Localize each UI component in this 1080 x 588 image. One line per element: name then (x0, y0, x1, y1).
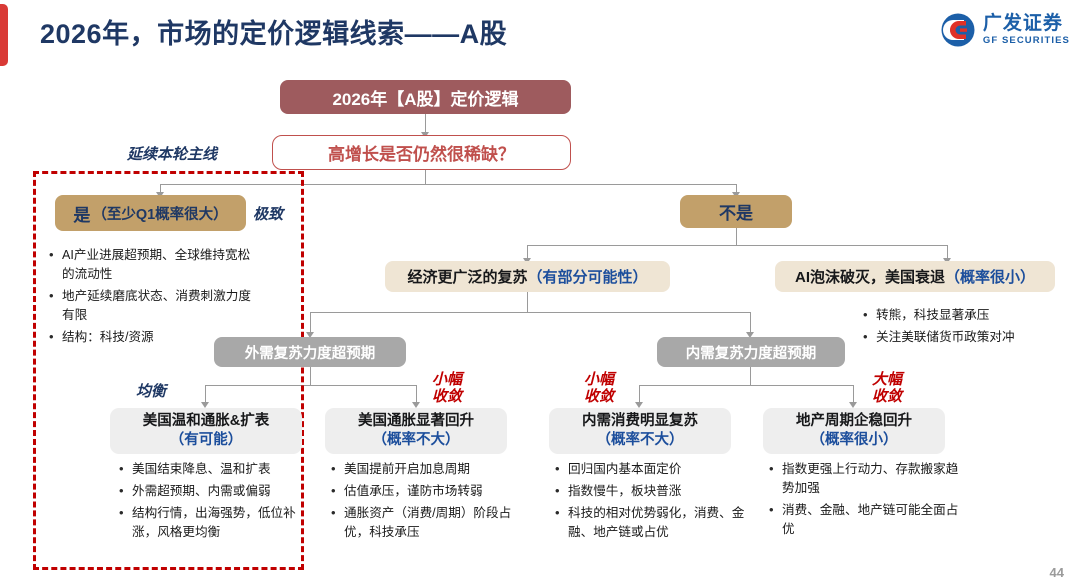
connector-no-down (736, 228, 737, 245)
node-outcome-4[interactable]: 地产周期企稳回升 （概率很小） (763, 408, 945, 454)
list-item: 结构行情，出海强势，低位补涨，风格更均衡 (118, 504, 308, 542)
node-branch-yes-main: 是 (73, 201, 90, 226)
bullets-outcome-4: 指数更强上行动力、存款搬家趋势加强 消费、金融、地产链可能全面占优 (768, 460, 960, 542)
list-item: 指数更强上行动力、存款搬家趋势加强 (768, 460, 960, 498)
annotation-outcome-3-line1: 小幅 (584, 372, 614, 389)
annotation-outcome-2-line2: 收敛 (432, 389, 462, 406)
annotation-outcome-2: 小幅 收敛 (432, 372, 462, 406)
annotation-outcome-4-line2: 收敛 (872, 389, 902, 406)
node-broader-recovery-text: 经济更广泛的复苏 (407, 266, 527, 287)
node-outcome-1[interactable]: 美国温和通胀&扩表 （有可能） (110, 408, 302, 454)
node-outcome-4-probability: （概率很小） (811, 431, 898, 450)
connector-internal-bar (639, 385, 853, 386)
node-outcome-2-title: 美国通胀显著回升 (358, 412, 474, 431)
list-item: AI产业进展超预期、全球维持宽松的流动性 (48, 246, 253, 284)
annotation-outcome-3: 小幅 收敛 (584, 372, 614, 406)
node-root[interactable]: 2026年【A股】定价逻辑 (280, 80, 571, 114)
annotation-outcome-4: 大幅 收敛 (872, 372, 902, 406)
page-number: 44 (1050, 565, 1064, 580)
slide-canvas: 2026年，市场的定价逻辑线索——A股 广发证券 GF SECURITIES 4… (0, 0, 1080, 588)
logo-text-cn: 广发证券 (983, 14, 1070, 33)
list-item: 回归国内基本面定价 (554, 460, 746, 479)
node-ai-bubble-text: AI泡沫破灭，美国衰退 (795, 266, 945, 287)
node-broader-recovery[interactable]: 经济更广泛的复苏（有部分可能性） (385, 261, 670, 292)
annotation-outcome-4-line1: 大幅 (872, 372, 902, 389)
list-item: 转熊，科技显著承压 (862, 306, 1077, 325)
list-item: 外需超预期、内需或偏弱 (118, 482, 308, 501)
connector-to-internal (750, 312, 751, 334)
node-ai-bubble-paren: （概率很小） (945, 266, 1035, 287)
node-outcome-3[interactable]: 内需消费明显复苏 （概率不大） (549, 408, 731, 454)
node-outcome-2[interactable]: 美国通胀显著回升 （概率不大） (325, 408, 507, 454)
brand-logo: 广发证券 GF SECURITIES (940, 12, 1070, 48)
node-outcome-4-title: 地产周期企稳回升 (796, 412, 912, 431)
bullets-ai-bubble: 转熊，科技显著承压 关注美联储货币政策对冲 (862, 306, 1077, 350)
list-item: 估值承压，谨防市场转弱 (330, 482, 520, 501)
connector-to-external (310, 312, 311, 334)
bullets-outcome-1: 美国结束降息、温和扩表 外需超预期、内需或偏弱 结构行情，出海强势，低位补涨，风… (118, 460, 308, 545)
bullets-branch-yes: AI产业进展超预期、全球维持宽松的流动性 地产延续磨底状态、消费刺激力度有限 结… (48, 246, 253, 349)
connector-internal-down (750, 367, 751, 385)
node-ai-bubble-burst[interactable]: AI泡沫破灭，美国衰退（概率很小） (775, 261, 1055, 292)
connector-drivers-bar (310, 312, 750, 313)
gf-logo-icon (940, 12, 976, 48)
list-item: 关注美联储货币政策对冲 (862, 328, 1077, 347)
bullets-outcome-3: 回归国内基本面定价 指数慢牛，板块普涨 科技的相对优势弱化，消费、金融、地产链或… (554, 460, 746, 545)
node-branch-no[interactable]: 不是 (680, 195, 792, 228)
connector-question-down (425, 169, 426, 184)
bullets-outcome-2: 美国提前开启加息周期 估值承压，谨防市场转弱 通胀资产（消费/周期）阶段占优，科… (330, 460, 520, 545)
node-outcome-3-probability: （概率不大） (597, 431, 684, 450)
list-item: 科技的相对优势弱化，消费、金融、地产链或占优 (554, 504, 746, 542)
list-item: 地产延续磨底状态、消费刺激力度有限 (48, 287, 253, 325)
node-internal-demand-driver[interactable]: 内需复苏力度超预期 (657, 337, 845, 367)
annotation-extreme: 极致 (253, 203, 283, 224)
connector-external-down (310, 367, 311, 385)
list-item: 消费、金融、地产链可能全面占优 (768, 501, 960, 539)
annotation-outcome-2-line1: 小幅 (432, 372, 462, 389)
connector-broad-down (527, 292, 528, 312)
node-outcome-1-probability: （有可能） (170, 431, 243, 450)
node-question[interactable]: 高增长是否仍然很稀缺？ (272, 135, 571, 170)
list-item: 美国结束降息、温和扩表 (118, 460, 308, 479)
annotation-outcome-1: 均衡 (136, 380, 166, 401)
node-external-demand-driver[interactable]: 外需复苏力度超预期 (214, 337, 406, 367)
left-red-accent-bar (0, 4, 8, 66)
connector-no-split-bar (527, 245, 947, 246)
node-branch-yes[interactable]: 是 （至少Q1概率很大） (55, 195, 246, 231)
page-title: 2026年，市场的定价逻辑线索——A股 (40, 12, 507, 51)
annotation-outcome-3-line2: 收敛 (584, 389, 614, 406)
node-outcome-1-title: 美国温和通胀&扩表 (143, 412, 269, 431)
list-item: 美国提前开启加息周期 (330, 460, 520, 479)
annotation-continue-main-line: 延续本轮主线 (127, 143, 217, 164)
node-outcome-3-title: 内需消费明显复苏 (582, 412, 698, 431)
list-item: 通胀资产（消费/周期）阶段占优，科技承压 (330, 504, 520, 542)
node-outcome-2-probability: （概率不大） (373, 431, 460, 450)
list-item: 指数慢牛，板块普涨 (554, 482, 746, 501)
logo-text-en: GF SECURITIES (983, 36, 1070, 46)
node-branch-yes-sub: （至少Q1概率很大） (92, 203, 227, 224)
node-broader-recovery-paren: （有部分可能性） (528, 266, 648, 287)
